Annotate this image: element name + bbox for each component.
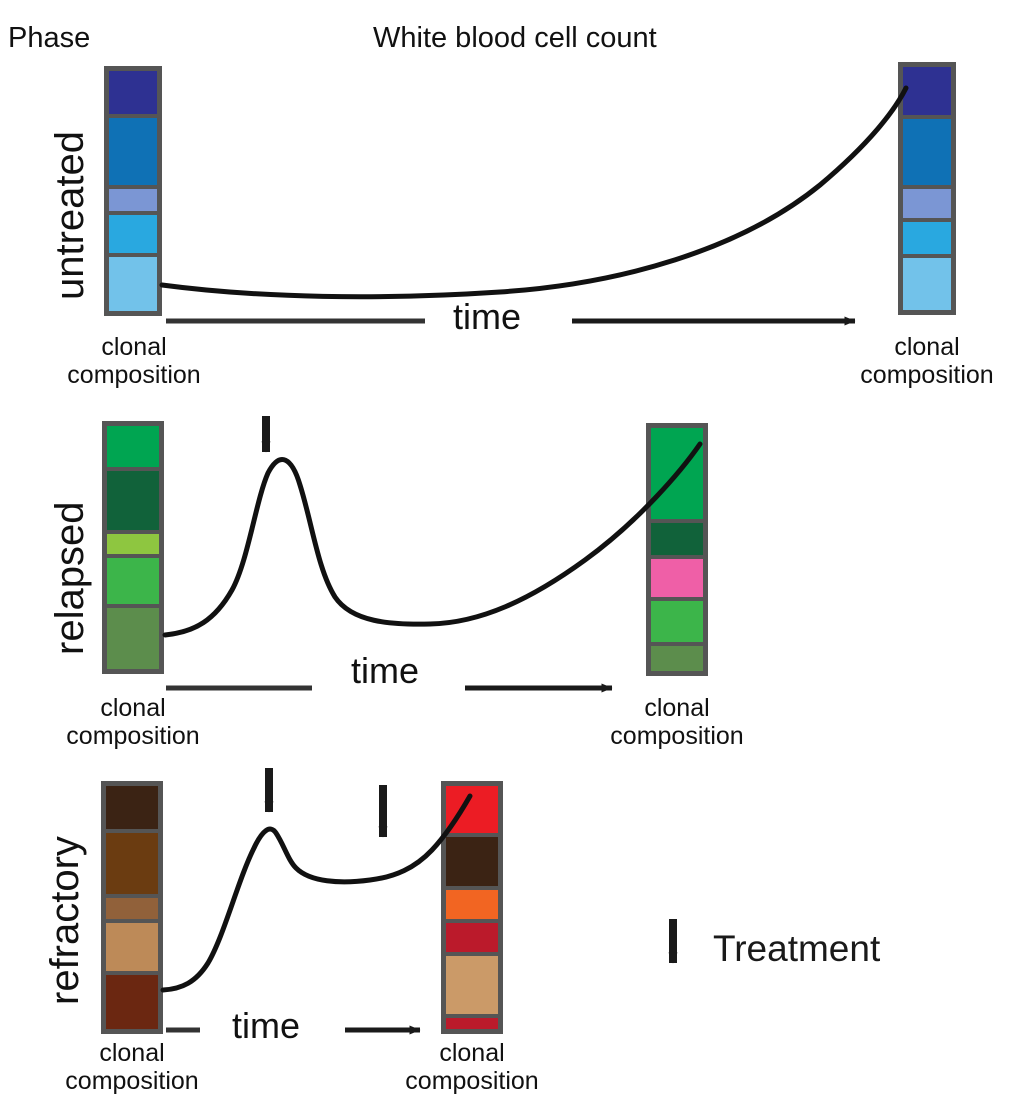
clone-segment[interactable] — [651, 523, 703, 559]
caption-line-2: composition — [603, 722, 751, 750]
clone-segment[interactable] — [446, 890, 498, 923]
clone-segment[interactable] — [109, 215, 157, 257]
caption-relapsed-left: clonal composition — [59, 694, 207, 750]
caption-refractory-right: clonal composition — [398, 1039, 546, 1095]
caption-untreated-left: clonal composition — [60, 333, 208, 389]
wbc-curve-refractory — [163, 796, 470, 990]
clone-segment[interactable] — [446, 956, 498, 1018]
wbc-column-header: White blood cell count — [373, 24, 657, 53]
caption-relapsed-right: clonal composition — [603, 694, 751, 750]
clone-segment[interactable] — [107, 558, 159, 607]
time-axis-label-relapsed: time — [351, 653, 419, 689]
clone-segment[interactable] — [903, 222, 951, 258]
clone-segment[interactable] — [109, 257, 157, 311]
caption-line-2: composition — [59, 722, 207, 750]
clonal-composition-bar-relapsed-left[interactable] — [102, 421, 164, 674]
clone-segment[interactable] — [446, 837, 498, 890]
clone-segment[interactable] — [446, 786, 498, 837]
time-axis-label-refractory: time — [232, 1008, 300, 1044]
clonal-evolution-diagram: Phase White blood cell count untreated r… — [0, 0, 1030, 1118]
clone-segment[interactable] — [446, 923, 498, 956]
clone-segment[interactable] — [903, 119, 951, 189]
clone-segment[interactable] — [106, 975, 158, 1029]
row-label-relapsed: relapsed — [50, 502, 90, 655]
clone-segment[interactable] — [107, 608, 159, 669]
clone-segment[interactable] — [106, 898, 158, 922]
clone-segment[interactable] — [109, 189, 157, 215]
time-axis-label-untreated: time — [453, 299, 521, 335]
caption-line-1: clonal — [398, 1039, 546, 1067]
caption-line-2: composition — [853, 361, 1001, 389]
caption-line-2: composition — [58, 1067, 206, 1095]
clonal-composition-bar-untreated-left[interactable] — [104, 66, 162, 316]
clone-segment[interactable] — [651, 601, 703, 646]
caption-line-1: clonal — [59, 694, 207, 722]
caption-refractory-left: clonal composition — [58, 1039, 206, 1095]
clone-segment[interactable] — [903, 189, 951, 223]
caption-untreated-right: clonal composition — [853, 333, 1001, 389]
clone-segment[interactable] — [651, 646, 703, 671]
clone-segment[interactable] — [651, 559, 703, 602]
clone-segment[interactable] — [106, 923, 158, 975]
clone-segment[interactable] — [109, 118, 157, 189]
clonal-composition-bar-relapsed-right[interactable] — [646, 423, 708, 676]
clone-segment[interactable] — [107, 471, 159, 534]
clone-segment[interactable] — [107, 534, 159, 558]
clone-segment[interactable] — [446, 1018, 498, 1029]
clone-segment[interactable] — [651, 428, 703, 523]
clone-segment[interactable] — [107, 426, 159, 471]
clonal-composition-bar-untreated-right[interactable] — [898, 62, 956, 315]
wbc-curve-relapsed — [165, 444, 700, 635]
clone-segment[interactable] — [903, 67, 951, 119]
clone-segment[interactable] — [903, 258, 951, 310]
caption-line-1: clonal — [603, 694, 751, 722]
clonal-composition-bar-refractory-right[interactable] — [441, 781, 503, 1034]
legend-treatment-label: Treatment — [713, 930, 880, 967]
row-label-refractory: refractory — [45, 836, 85, 1005]
caption-line-2: composition — [398, 1067, 546, 1095]
clone-segment[interactable] — [109, 71, 157, 118]
clone-segment[interactable] — [106, 786, 158, 833]
clonal-composition-bar-refractory-left[interactable] — [101, 781, 163, 1034]
wbc-curve-untreated — [162, 88, 906, 297]
caption-line-2: composition — [60, 361, 208, 389]
caption-line-1: clonal — [853, 333, 1001, 361]
clone-segment[interactable] — [106, 833, 158, 898]
caption-line-1: clonal — [58, 1039, 206, 1067]
phase-column-header: Phase — [8, 24, 90, 53]
caption-line-1: clonal — [60, 333, 208, 361]
row-label-untreated: untreated — [50, 131, 90, 300]
